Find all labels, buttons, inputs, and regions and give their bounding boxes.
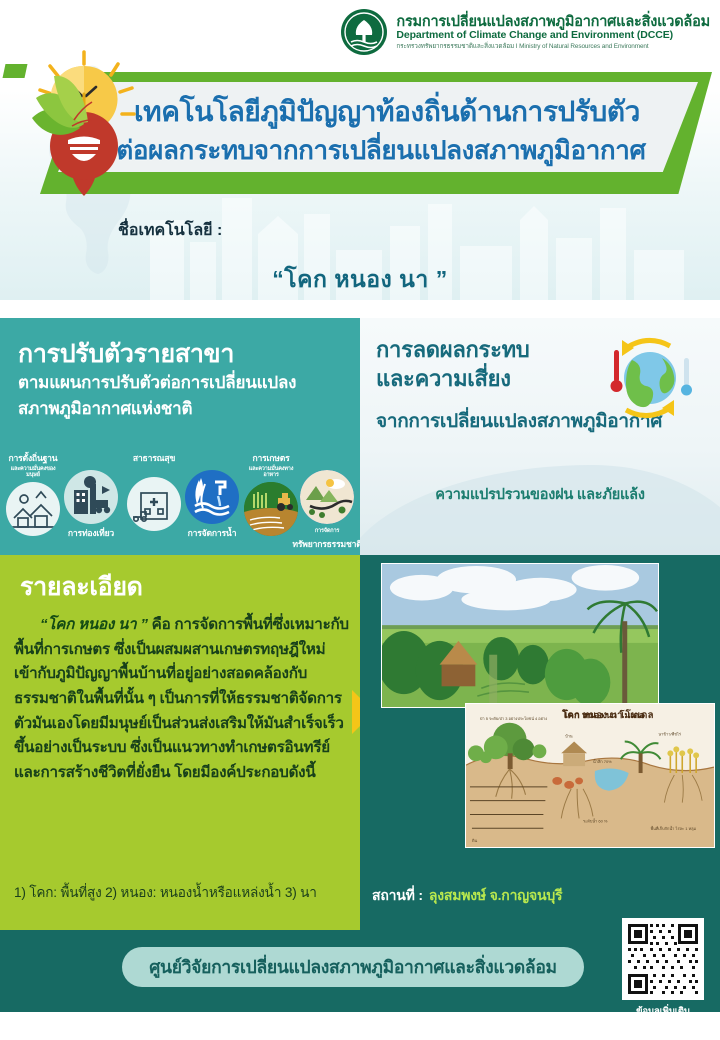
details-body: “โคก หนอง นา ” คือ การจัดการพื้นที่ซึ่งเ…	[14, 613, 350, 785]
agriculture-field-tractor-icon	[244, 482, 298, 536]
sector-agriculture-caption: การเกษตร และความมั่นคงทางอาหาร	[242, 448, 300, 478]
lightbulb-leaf-pin-icon	[14, 44, 154, 224]
natural-resource-mountain-icon	[300, 470, 354, 524]
mitigation-heading: การลดผลกระทบ และความเสี่ยง	[376, 336, 576, 393]
svg-text:พื้นที่เก็บกักน้ำ ไร่ละ 1 หลุม: พื้นที่เก็บกักน้ำ ไร่ละ 1 หลุม	[650, 824, 696, 832]
location-value: ลุงสมพงษ์ จ.กาญจนบุรี	[429, 887, 563, 903]
media-column: โคก หนอง นา โมเดล ป่า 5 ระดับ/ป่า 3 อย่า…	[360, 555, 720, 930]
sector-water[interactable]: การจัดการน้ำ	[183, 470, 241, 538]
farm-photo	[381, 563, 659, 708]
qr-code-icon[interactable]	[622, 918, 704, 1000]
dcce-seal-icon	[340, 8, 388, 56]
water-management-tap-icon	[185, 470, 239, 524]
technology-label: ชื่อเทคโนโลยี :	[118, 218, 222, 243]
sector-agriculture[interactable]: การเกษตร และความมั่นคงทางอาหาร	[242, 448, 300, 536]
footer-pill[interactable]: ศูนย์วิจัยการเปลี่ยนแปลงสภาพภูมิอากาศและ…	[122, 947, 584, 987]
sector-public-health[interactable]: สาธารณสุข	[125, 448, 183, 531]
sector-natural-caption: การจัดการ ทรัพยากรธรรมชาติ	[292, 528, 362, 552]
header-band: กรมการเปลี่ยนแปลงสภาพภูมิอากาศและสิ่งแวด…	[0, 0, 720, 300]
sector-tourism[interactable]: การท่องเที่ยว	[62, 470, 120, 538]
thermometer-cold	[681, 358, 692, 396]
technology-name: “โคก หนอง นา ”	[0, 262, 720, 298]
poster-root: กรมการเปลี่ยนแปลงสภาพภูมิอากาศและสิ่งแวด…	[0, 0, 720, 1040]
footer-bar: ศูนย์วิจัยการเปลี่ยนแปลงสภาพภูมิอากาศและ…	[0, 930, 720, 1012]
settlement-houses-icon	[6, 482, 60, 536]
svg-text:ป่า 5 ระดับ/ป่า 3 อย่างประโยชน: ป่า 5 ระดับ/ป่า 3 อย่างประโยชน์ 4 อย่าง	[480, 716, 547, 721]
sector-settlement[interactable]: การตั้งถิ่นฐาน และความมั่นคงของมนุษย์	[4, 448, 62, 536]
adaptation-subheading-line2: สภาพภูมิอากาศแห่งชาติ	[18, 399, 192, 418]
tourism-city-car-icon	[64, 470, 118, 524]
org-ministry: กระทรวงทรัพยากรธรรมชาติและสิ่งแวดล้อม I …	[396, 43, 710, 50]
adaptation-subheading: ตามแผนการปรับตัวต่อการเปลี่ยนแปลง สภาพภู…	[18, 370, 348, 423]
adaptation-subheading-line1: ตามแผนการปรับตัวต่อการเปลี่ยนแปลง	[18, 373, 296, 392]
details-body-text: คือ การจัดการพื้นที่ซึ่งเหมาะกับพื้นที่ก…	[14, 616, 349, 781]
sector-icon-strip: การตั้งถิ่นฐาน และความมั่นคงของมนุษย์	[0, 448, 360, 556]
public-health-hospital-icon	[127, 477, 181, 531]
globe-thermometer-icon	[592, 332, 704, 424]
bottom-white-strip	[0, 1012, 720, 1040]
sector-water-caption: การจัดการน้ำ	[183, 529, 241, 538]
location-label: สถานที่ :	[372, 887, 423, 903]
footer-text: ศูนย์วิจัยการเปลี่ยนแปลงสภาพภูมิอากาศและ…	[149, 953, 557, 981]
mitigation-panel: การลดผลกระทบ และความเสี่ยง จากการเปลี่ยน…	[360, 318, 720, 555]
adaptation-heading: การปรับตัวรายสาขา	[18, 334, 234, 374]
details-components: 1) โคก: พื้นที่สูง 2) หนอง: หนองน้ำหรือแ…	[14, 883, 354, 903]
sector-settlement-caption: การตั้งถิ่นฐาน และความมั่นคงของมนุษย์	[4, 448, 62, 478]
details-heading: รายละเอียด	[20, 567, 143, 607]
org-name-th: กรมการเปลี่ยนแปลงสภาพภูมิอากาศและสิ่งแวด…	[396, 14, 710, 30]
diagram-title: โคก หนอง นา โมเดล	[562, 708, 654, 723]
org-name-en: Department of Climate Change and Environ…	[396, 30, 710, 42]
dcce-org-logo: กรมการเปลี่ยนแปลงสภาพภูมิอากาศและสิ่งแวด…	[340, 8, 710, 56]
mitigation-note: ความแปรปรวนของฝน และภัยแล้ง	[360, 483, 720, 506]
sector-natural-resources[interactable]: การจัดการ ทรัพยากรธรรมชาติ	[298, 470, 356, 552]
svg-text:บ้าน: บ้าน	[565, 734, 573, 739]
sector-tourism-caption: การท่องเที่ยว	[62, 529, 120, 538]
sector-health-caption: สาธารณสุข	[125, 448, 183, 466]
svg-text:น้ำลึก 70%: น้ำลึก 70%	[593, 757, 612, 764]
svg-text:นาข้าว/พืชไร่: นาข้าว/พืชไร่	[658, 732, 681, 737]
svg-text:ระดับน้ำ 60 %: ระดับน้ำ 60 %	[583, 816, 608, 823]
svg-text:ดิน: ดิน	[472, 838, 478, 843]
details-quote: “โคก หนอง นา ”	[40, 616, 148, 633]
details-panel: รายละเอียด “โคก หนอง นา ” คือ การจัดการพ…	[0, 555, 360, 930]
location-row: สถานที่ :ลุงสมพงษ์ จ.กาญจนบุรี	[372, 885, 562, 907]
thermometer-hot	[611, 350, 623, 392]
mitigation-heading-line1: การลดผลกระทบ	[376, 337, 529, 362]
cross-section-diagram: โคก หนอง นา โมเดล ป่า 5 ระดับ/ป่า 3 อย่า…	[465, 703, 715, 848]
hill-decoration	[360, 465, 720, 555]
mitigation-heading-line2: และความเสี่ยง	[376, 366, 511, 391]
